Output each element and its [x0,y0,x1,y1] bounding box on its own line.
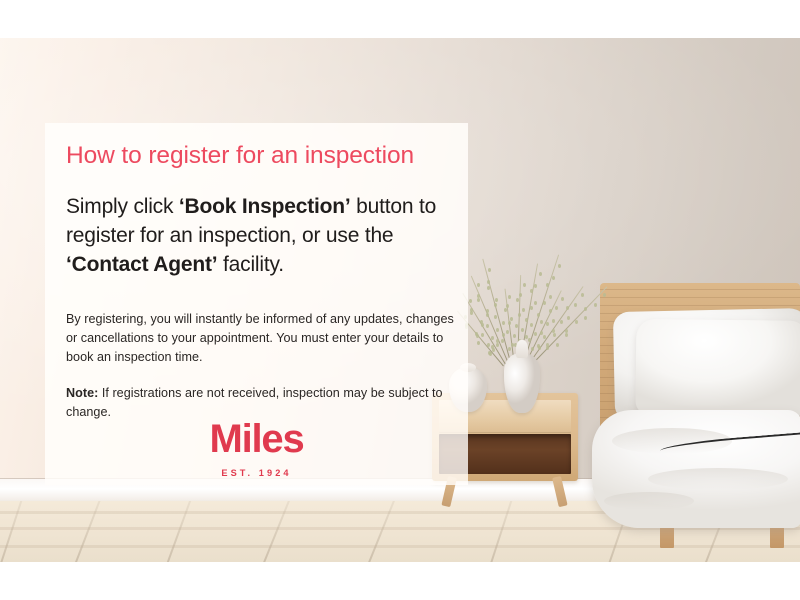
branch-leaf [521,328,524,332]
branch-leaf [496,328,499,332]
branch-leaf [534,301,537,305]
branch-leaf [523,283,526,287]
page-title: How to register for an inspection [66,123,458,171]
branch-leaf [565,333,568,337]
branch-leaf [469,299,472,303]
headboard-grain [600,297,800,298]
text-overlay-panel: How to register for an inspection Simply… [45,123,468,485]
branch-leaf [534,332,537,336]
branch-leaf [487,343,490,347]
branch-leaf [510,317,513,321]
branch-leaf [558,264,561,268]
branch-leaf [581,293,584,297]
branch-leaf [513,334,516,338]
branch-leaf [553,333,556,337]
branch-leaf [567,316,570,320]
poster-canvas: How to register for an inspection Simply… [0,0,800,600]
logo-established: EST. 1924 [45,468,468,478]
branch-leaf [477,341,480,345]
lede-part-1: Simply click [66,195,179,218]
branch-leaf [506,304,509,308]
branch-leaf [561,297,564,301]
lede-part-3: facility. [217,253,283,276]
branch-leaf [488,268,491,272]
letterbox-bottom [0,562,800,600]
note-text: If registrations are not received, inspe… [66,386,443,419]
branch-leaf [528,338,531,342]
logo-wordmark: Miles [45,419,468,459]
branch-leaf [487,286,490,290]
branch-leaf [495,298,498,302]
branch-leaf [555,306,558,310]
branch-leaf [565,329,568,333]
branch-leaf [502,333,505,337]
branch-leaf [496,343,499,347]
branch-leaf [560,320,563,324]
branch-leaf [552,276,555,280]
branch-leaf [486,309,489,313]
branch-leaf [552,319,555,323]
branch-leaf [537,313,540,317]
branch-leaf [574,303,577,307]
branch-leaf [530,323,533,327]
bedroom-photo: How to register for an inspection Simply… [0,38,800,562]
branch-leaf [494,303,497,307]
branch-leaf [491,336,494,340]
floor-grain [0,545,800,548]
branch-leaf [530,289,533,293]
branch-leaf [516,298,519,302]
branch-leaf [556,343,559,347]
branch-leaf [515,324,518,328]
branch-leaf [543,301,546,305]
branch-leaf [477,283,480,287]
branch-leaf [518,313,521,317]
headboard-grain [600,305,800,306]
branch-leaf [584,316,587,320]
branch-leaf [594,303,597,307]
branch-leaf [481,333,484,337]
letterbox-top [0,0,800,38]
branch-leaf [501,339,504,343]
branch-leaf [496,339,499,343]
branch-leaf [494,315,497,319]
note-label: Note: [66,386,98,400]
book-inspection-emphasis: ‘Book Inspection’ [179,195,351,218]
branch-leaf [470,308,473,312]
lede-paragraph: Simply click ‘Book Inspection’ button to… [66,193,458,280]
branch-leaf [511,343,514,347]
branch-leaf [575,320,578,324]
contact-agent-emphasis: ‘Contact Agent’ [66,253,217,276]
branch-leaf [506,330,509,334]
branch-leaf [546,346,549,350]
branch-leaf [488,351,491,355]
branch-leaf [504,308,507,312]
branch-leaf [540,320,543,324]
branch-leaf [546,283,549,287]
branch-leaf [538,346,541,350]
branch-leaf [477,298,480,302]
duvet [592,410,800,528]
branch-leaf [566,306,569,310]
branch-leaf [549,309,552,313]
branch-leaf [546,322,549,326]
branch-leaf [508,321,511,325]
branch-leaf [519,293,522,297]
pillow-front [636,319,800,417]
branch-leaf [522,308,525,312]
branch-leaf [508,295,511,299]
branch-leaf [539,272,542,276]
branch-leaf [530,306,533,310]
registration-info-paragraph: By registering, you will instantly be in… [66,310,458,367]
branch-leaf [477,294,480,298]
branch-leaf [540,331,543,335]
brand-logo: Miles EST. 1924 [45,419,468,478]
branch-leaf [502,321,505,325]
headboard-grain [600,289,800,290]
branch-leaf [486,324,489,328]
branch-leaf [531,347,534,351]
branch-leaf [549,295,552,299]
branch-leaf [534,284,537,288]
